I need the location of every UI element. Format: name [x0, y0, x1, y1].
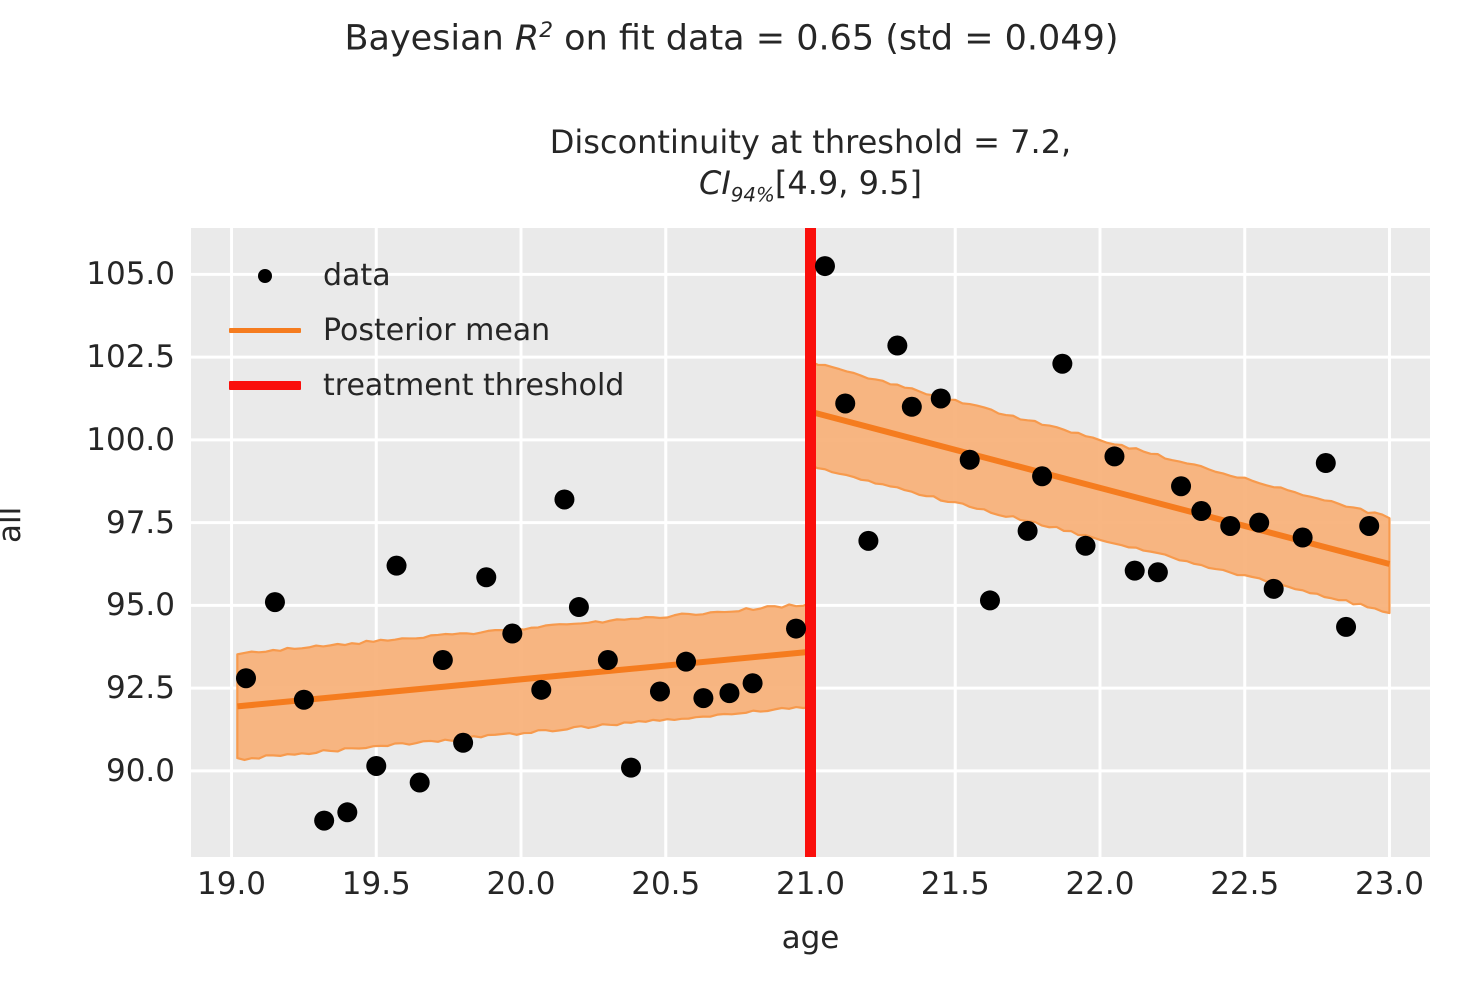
- y-axis-label: all: [0, 507, 28, 543]
- legend-marker-line-icon: [225, 328, 305, 333]
- suptitle-exponent: 2: [539, 18, 553, 43]
- axes-title-line1: Discontinuity at threshold = 7.2,: [191, 122, 1430, 163]
- suptitle-prefix: Bayesian: [344, 19, 514, 59]
- ci-interval: [4.9, 9.5]: [775, 164, 922, 202]
- y-tick-label: 97.5: [106, 505, 175, 541]
- x-tick-label: 20.0: [486, 866, 555, 902]
- legend-label-treatment-threshold: treatment threshold: [323, 368, 624, 403]
- x-tick-label: 19.5: [342, 866, 411, 902]
- x-tick-label: 20.5: [631, 866, 700, 902]
- y-tick-label: 90.0: [106, 753, 175, 789]
- ci-symbol: CI: [699, 164, 731, 202]
- x-tick-label: 21.5: [921, 866, 990, 902]
- legend-item-data[interactable]: data: [225, 248, 695, 303]
- x-axis-label: age: [191, 920, 1430, 956]
- figure-suptitle: Bayesian R2 on fit data = 0.65 (std = 0.…: [0, 18, 1463, 59]
- legend: data Posterior mean treatment threshold: [225, 248, 695, 413]
- y-tick-label: 95.0: [106, 587, 175, 623]
- ci-level: 94%: [731, 183, 775, 206]
- legend-item-posterior-mean[interactable]: Posterior mean: [225, 303, 695, 358]
- x-tick-label: 22.0: [1065, 866, 1134, 902]
- legend-label-posterior-mean: Posterior mean: [323, 313, 550, 348]
- suptitle-r-symbol: R: [515, 19, 539, 59]
- figure-canvas: Bayesian R2 on fit data = 0.65 (std = 0.…: [0, 0, 1463, 983]
- x-tick-label: 21.0: [776, 866, 845, 902]
- suptitle-suffix: on fit data = 0.65 (std = 0.049): [553, 19, 1118, 59]
- legend-marker-threshold-icon: [225, 381, 305, 390]
- legend-item-treatment-threshold[interactable]: treatment threshold: [225, 358, 695, 413]
- x-tick-label: 22.5: [1210, 866, 1279, 902]
- legend-marker-dot-icon: [225, 269, 305, 283]
- legend-label-data: data: [323, 258, 391, 293]
- y-tick-label: 92.5: [106, 670, 175, 706]
- x-tick-label: 23.0: [1355, 866, 1424, 902]
- y-tick-label: 105.0: [86, 256, 175, 292]
- axes-title-line2: CI94%[4.9, 9.5]: [191, 163, 1430, 208]
- x-tick-label: 19.0: [197, 866, 266, 902]
- axes-title: Discontinuity at threshold = 7.2, CI94%[…: [191, 122, 1430, 208]
- y-tick-label: 102.5: [86, 339, 175, 375]
- y-tick-label: 100.0: [86, 422, 175, 458]
